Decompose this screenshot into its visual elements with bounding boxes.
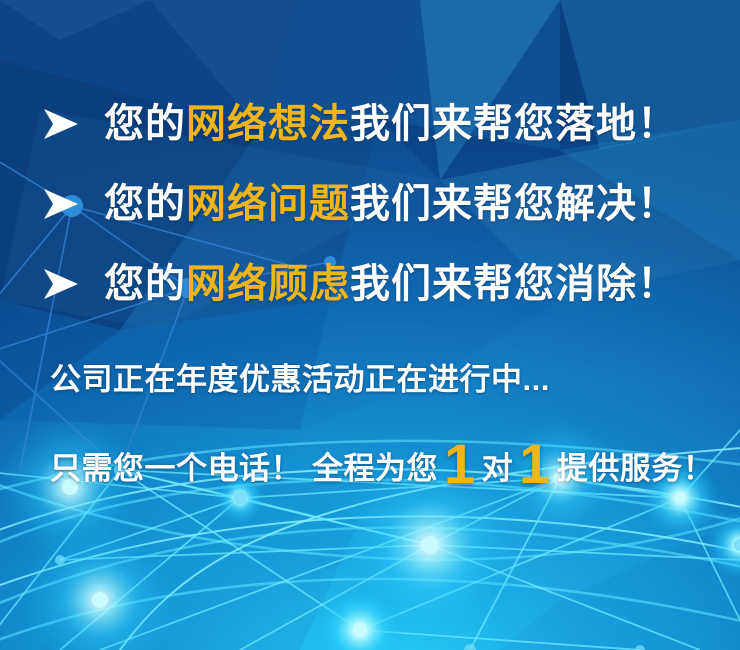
service-ratio-number-1: 1 [444,436,476,492]
bullet-2-highlight: 网络问题 [186,182,350,226]
bullet-text-2: 您的网络问题我们来帮您解决！ [104,184,678,224]
bullet-3-prefix: 您的 [104,262,186,306]
subtext-2-part3: 提供服务！ [557,453,715,484]
arrow-right-icon [40,104,82,144]
bullet-3-suffix: 我们来帮您消除！ [350,262,678,306]
subtext-2-part1: 只需您一个电话！ [50,453,302,484]
service-ratio-number-2: 1 [519,436,551,492]
subtext-2-part2: 全程为您 [312,453,438,484]
bullet-text-1: 您的网络想法我们来帮您落地！ [104,104,678,144]
arrow-right-icon [40,184,82,224]
promo-banner: 您的网络想法我们来帮您落地！ 您的网络问题我们来帮您解决！ 您的网络顾虑我们来帮… [0,0,740,650]
bullet-row-1: 您的网络想法我们来帮您落地！ [40,104,678,144]
bullet-2-suffix: 我们来帮您解决！ [350,182,678,226]
bullet-2-prefix: 您的 [104,182,186,226]
subtext-2-middle: 对 [482,453,514,484]
arrow-right-icon [40,264,82,304]
bullet-1-highlight: 网络想法 [186,102,350,146]
bullet-row-2: 您的网络问题我们来帮您解决！ [40,184,678,224]
bullet-text-3: 您的网络顾虑我们来帮您消除！ [104,264,678,304]
promo-subtext-line-2: 只需您一个电话！ 全程为您 1 对 1 提供服务！ [50,432,714,488]
bullet-1-suffix: 我们来帮您落地！ [350,102,678,146]
bullet-1-prefix: 您的 [104,102,186,146]
bullet-3-highlight: 网络顾虑 [186,262,350,306]
promo-subtext-line-1: 公司正在年度优惠活动正在进行中... [50,364,550,395]
bullet-row-3: 您的网络顾虑我们来帮您消除！ [40,264,678,304]
